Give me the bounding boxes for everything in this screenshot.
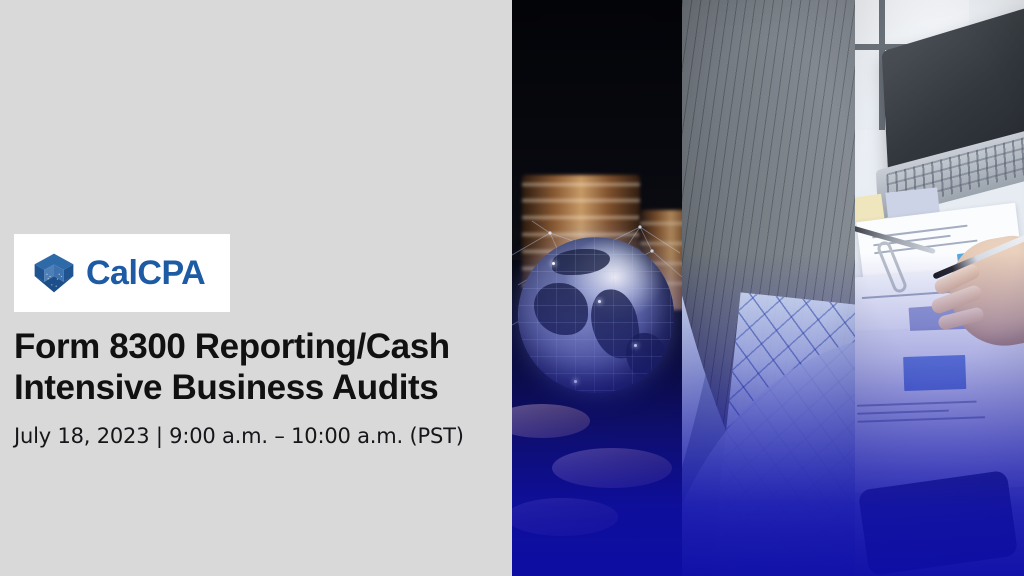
calcpa-logo-wordmark: CalCPA <box>86 256 205 290</box>
desk-audit-artwork <box>855 0 1024 576</box>
photo-panel-desk-audit <box>855 0 1024 576</box>
page-title: Form 8300 Reporting/Cash Intensive Busin… <box>14 326 510 409</box>
globe-coins-artwork <box>512 0 682 576</box>
architecture-artwork <box>682 0 855 576</box>
webinar-title-slide: CalCPA Form 8300 Reporting/Cash Intensiv… <box>0 0 1024 576</box>
glass-globe <box>518 237 674 393</box>
photo-panel-globe-coins <box>512 0 682 576</box>
calcpa-logo-lockup: CalCPA <box>14 234 230 312</box>
page-title-line-2: Intensive Business Audits <box>14 367 510 408</box>
left-content-panel: CalCPA Form 8300 Reporting/Cash Intensiv… <box>0 0 512 576</box>
page-title-line-1: Form 8300 Reporting/Cash <box>14 327 450 366</box>
event-datetime: July 18, 2023 | 9:00 a.m. – 10:00 a.m. (… <box>14 423 510 449</box>
calcpa-cube-logo-icon <box>32 251 76 295</box>
photo-panel-architecture <box>682 0 855 576</box>
photo-strip <box>512 0 1024 576</box>
